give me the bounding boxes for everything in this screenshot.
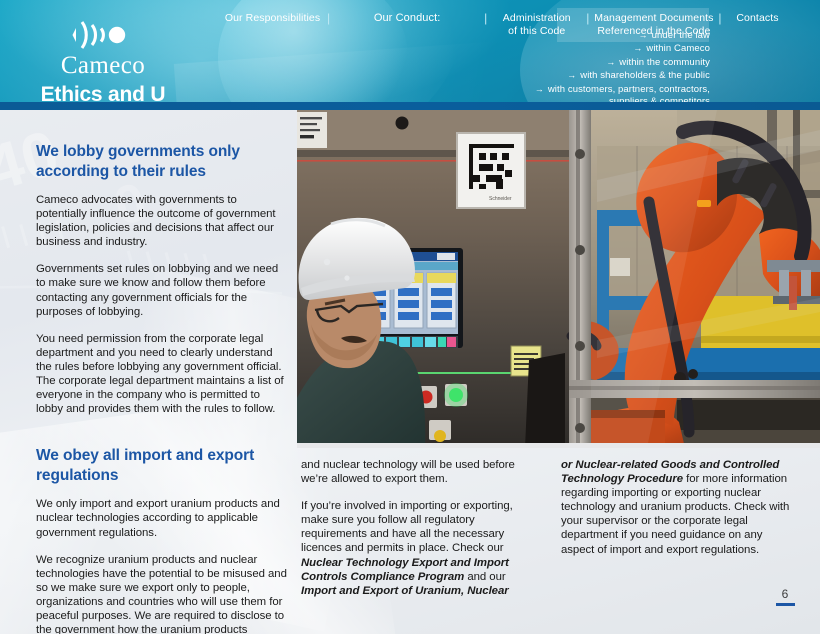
- nav-separator: |: [716, 12, 723, 25]
- brand-tagline-u: U: [150, 83, 165, 102]
- paragraph-import-export-2b: and nuclear technology will be used befo…: [301, 458, 537, 486]
- sub-nav-item-within-cameco[interactable]: →within Cameco: [448, 42, 710, 55]
- content-column-left: We lobby governments only according to t…: [36, 142, 288, 634]
- arrow-right-icon: →: [606, 56, 615, 68]
- nav-separator: |: [584, 12, 591, 25]
- arrow-right-icon: →: [567, 69, 576, 81]
- sub-nav-item-within-the-community[interactable]: →within the community: [448, 56, 710, 69]
- ethics-code-page: Cameco Ethics and U Our Responsibilities…: [0, 0, 820, 634]
- paragraph-import-export-2a: We recognize uranium products and nuclea…: [36, 553, 288, 634]
- nav-separator: |: [482, 12, 489, 25]
- paragraph-lobbying-3: You need permission from the corporate l…: [36, 332, 288, 417]
- section-heading-import-export: We obey all import and export regulation…: [36, 446, 288, 485]
- content-column-middle: and nuclear technology will be used befo…: [301, 458, 537, 598]
- sub-nav-item-with-shareholders-and-the-public[interactable]: →with shareholders & the public: [448, 69, 710, 82]
- industrial-facility-photo: Schneider: [297, 110, 820, 448]
- page-number: 6: [770, 588, 800, 601]
- sub-nav-item-under-the-law[interactable]: →under the law: [448, 29, 710, 42]
- page-header: Cameco Ethics and U Our Responsibilities…: [0, 0, 820, 102]
- paragraph-lead-text: If you’re involved in importing or expor…: [301, 500, 513, 554]
- brand-block[interactable]: Cameco Ethics and U: [28, 18, 178, 102]
- paragraph-import-export-3a: If you’re involved in importing or expor…: [301, 499, 537, 598]
- arrow-right-icon: →: [639, 29, 648, 41]
- section-heading-lobbying: We lobby governments only according to t…: [36, 142, 288, 181]
- sub-nav-label: with shareholders & the public: [580, 70, 710, 81]
- paragraph-lobbying-1: Cameco advocates with governments to pot…: [36, 193, 288, 249]
- main-navigation: Our Responsibilities | Our Conduct: | Ad…: [220, 0, 820, 102]
- sub-nav-label: within Cameco: [646, 43, 710, 54]
- paragraph-mid-text: and our: [464, 571, 505, 583]
- paragraph-tail-text: for more information regarding importing…: [561, 473, 789, 555]
- sub-nav-label: within the community: [619, 57, 710, 68]
- page-number-rule: [776, 603, 795, 606]
- nav-separator: |: [325, 12, 332, 25]
- conduct-sub-navigation: →under the law →within Cameco →within th…: [448, 29, 710, 102]
- nav-item-our-responsibilities[interactable]: Our Responsibilities: [220, 12, 325, 25]
- sub-nav-item-with-customers-partners-contractors[interactable]: →with customers, partners, contractors, …: [448, 83, 710, 102]
- cameco-signal-arcs-logo-icon: [72, 18, 134, 52]
- sub-nav-label: under the law: [652, 30, 710, 41]
- document-reference-import-export-uranium[interactable]: Import and Export of Uranium, Nuclear: [301, 585, 509, 597]
- brand-tagline-prefix: Ethics and: [41, 83, 151, 102]
- arrow-right-icon: →: [535, 83, 544, 95]
- header-accent-band: [0, 102, 820, 110]
- page-number-block: 6: [770, 588, 800, 606]
- paragraph-import-export-3b: or Nuclear-related Goods and Controlled …: [561, 458, 797, 557]
- sub-nav-label: with customers, partners, contractors, s…: [548, 84, 710, 102]
- arrow-right-icon: →: [633, 42, 642, 54]
- photo-artwork: Schneider: [297, 110, 820, 448]
- nav-item-contacts[interactable]: Contacts: [724, 12, 792, 25]
- brand-name: Cameco: [28, 53, 178, 79]
- brand-tagline: Ethics and U: [28, 83, 178, 102]
- paragraph-lobbying-2: Governments set rules on lobbying and we…: [36, 262, 288, 318]
- content-column-right: or Nuclear-related Goods and Controlled …: [561, 458, 797, 557]
- nav-item-our-conduct[interactable]: Our Conduct:: [332, 12, 482, 25]
- svg-text:Schneider: Schneider: [489, 196, 512, 202]
- paragraph-import-export-1: We only import and export uranium produc…: [36, 497, 288, 539]
